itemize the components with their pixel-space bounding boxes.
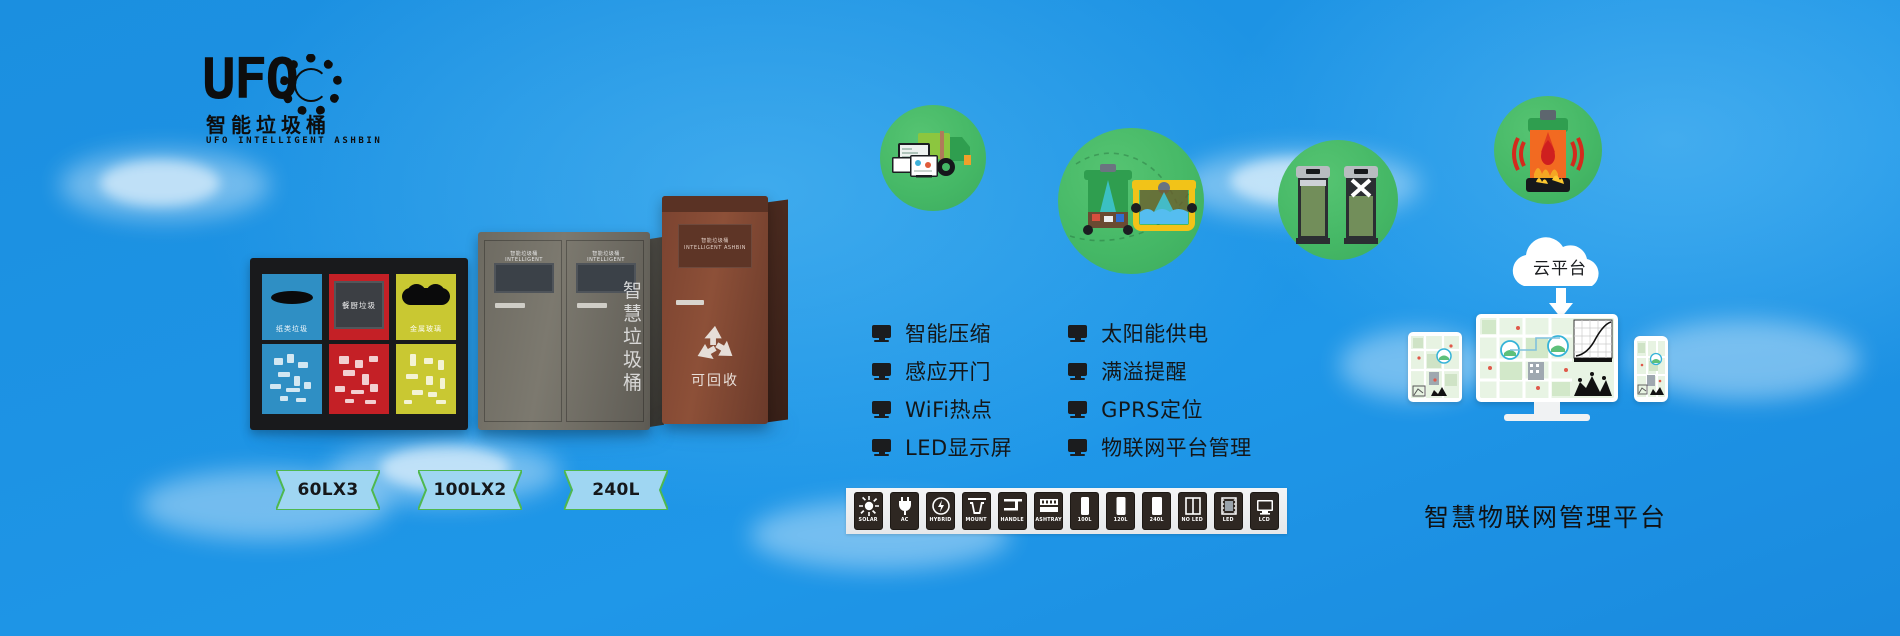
compartment-lower bbox=[262, 344, 322, 414]
bin-top-cap bbox=[662, 196, 768, 212]
tablet-map-view bbox=[1411, 336, 1459, 398]
spec-option-solar[interactable]: SOLAR bbox=[854, 492, 883, 530]
litter-graphic bbox=[262, 344, 322, 414]
compartment-label: 餐厨垃圾 bbox=[336, 300, 382, 311]
feature-label: 太阳能供电 bbox=[1101, 318, 1209, 348]
dashboard-graphic bbox=[1480, 318, 1614, 398]
bin-compartment-metal-glass: 金属玻璃 bbox=[396, 274, 456, 414]
cloud-platform-diagram: 云平台 bbox=[1388, 236, 1688, 436]
cloud-decoration bbox=[100, 160, 220, 206]
feature-circle-fire-alarm[interactable] bbox=[1494, 96, 1602, 204]
spec-label: HANDLE bbox=[1001, 517, 1024, 524]
spec-option-mount[interactable]: MOUNT bbox=[962, 492, 991, 530]
feature-item: GPRS定位 bbox=[1068, 394, 1252, 424]
feature-item: 满溢提醒 bbox=[1068, 356, 1252, 386]
feature-label: 智能压缩 bbox=[905, 318, 991, 348]
feature-column-2: 太阳能供电 满溢提醒 GPRS定位 物联网平台管理 bbox=[1068, 318, 1252, 462]
monitor-icon bbox=[1068, 325, 1087, 341]
spec-label: 240L bbox=[1149, 517, 1163, 524]
door-handle[interactable] bbox=[676, 300, 704, 305]
feature-item: 智能压缩 bbox=[872, 318, 1012, 348]
bin-compartment-paper: 纸类垃圾 bbox=[262, 274, 322, 414]
garbage-truck-dashboard-icon bbox=[880, 105, 986, 211]
spec-label: LED bbox=[1223, 517, 1234, 524]
waste-slot-oval-icon bbox=[271, 291, 313, 304]
platform-caption: 智慧物联网管理平台 bbox=[1424, 498, 1724, 534]
compartment-label: 金属玻璃 bbox=[396, 324, 456, 334]
cloud-icon: 云平台 bbox=[1500, 236, 1620, 292]
spec-option-led[interactable]: LED bbox=[1214, 492, 1243, 530]
product-triple-bin[interactable]: 纸类垃圾 餐厨垃圾 bbox=[250, 258, 468, 430]
monitor-icon bbox=[872, 439, 891, 455]
spec-option-ac[interactable]: AC bbox=[890, 492, 919, 530]
recycle-label: 可回收 bbox=[662, 370, 768, 390]
panel-label-en: INTELLIGENT ASHBIN bbox=[684, 245, 746, 251]
monitor-icon bbox=[872, 325, 891, 341]
spec-option-hybrid[interactable]: HYBRID bbox=[926, 492, 955, 530]
feature-label: GPRS定位 bbox=[1101, 394, 1203, 424]
logo-cn-name: 智能垃圾桶 bbox=[206, 114, 331, 136]
spec-label: 120L bbox=[1113, 517, 1127, 524]
waste-slot-cloud-icon bbox=[402, 288, 450, 305]
monitor-base bbox=[1504, 414, 1590, 421]
litter-graphic bbox=[329, 344, 389, 414]
monitor-icon bbox=[1068, 363, 1087, 379]
feature-item: 太阳能供电 bbox=[1068, 318, 1252, 348]
litter-graphic bbox=[396, 344, 456, 414]
spec-option-240l[interactable]: 240L bbox=[1142, 492, 1171, 530]
feature-label: LED显示屏 bbox=[905, 432, 1012, 462]
device-smartphone[interactable] bbox=[1634, 336, 1668, 402]
bin-fire-alarm-icon bbox=[1494, 96, 1602, 204]
spec-option-handle[interactable]: HANDLE bbox=[998, 492, 1027, 530]
capacity-banner-240l: 240L bbox=[564, 470, 668, 510]
monitor-icon bbox=[1068, 439, 1087, 455]
map-graphic bbox=[1411, 336, 1459, 398]
door-handle[interactable] bbox=[495, 303, 525, 308]
compartment-label: 纸类垃圾 bbox=[262, 324, 322, 334]
monitor-icon bbox=[872, 401, 891, 417]
capacity-label: 100LX2 bbox=[433, 480, 506, 500]
bin-120l-icon bbox=[1110, 495, 1132, 517]
power-plug-icon bbox=[894, 495, 916, 517]
hybrid-power-icon bbox=[930, 495, 952, 517]
bin-side-panel bbox=[766, 199, 788, 422]
brand-logo: UFO 智能垃圾桶 UFO INTELLIGENT ASHBIN bbox=[196, 52, 386, 154]
ufo-ring-inner-icon bbox=[294, 68, 328, 102]
display-screen: 餐厨垃圾 bbox=[334, 281, 384, 329]
monitor-icon bbox=[872, 363, 891, 379]
lcd-screen-icon bbox=[1254, 495, 1276, 517]
feature-item: 物联网平台管理 bbox=[1068, 432, 1252, 462]
feature-item: 感应开门 bbox=[872, 356, 1012, 386]
feature-list: 智能压缩 感应开门 WiFi热点 LED显示屏 太阳能供电 满溢提醒 bbox=[872, 318, 1252, 462]
spec-label: SOLAR bbox=[859, 517, 878, 524]
promo-banner: UFO 智能垃圾桶 UFO INTELLIGENT ASHBIN 纸类垃圾 bbox=[0, 0, 1900, 636]
ashtray-icon bbox=[1038, 495, 1060, 517]
spec-option-strip: SOLAR AC HYBRID MOUNT bbox=[846, 488, 1287, 534]
spec-option-100l[interactable]: 100L bbox=[1070, 492, 1099, 530]
capacity-banner-100lx2: 100LX2 bbox=[418, 470, 522, 510]
bin-ultrasonic-fill-icon bbox=[1058, 128, 1204, 274]
capacity-banner-60lx3: 60LX3 bbox=[276, 470, 380, 510]
spec-label: LCD bbox=[1259, 517, 1270, 524]
feature-label: 满溢提醒 bbox=[1101, 356, 1187, 386]
spec-option-lcd[interactable]: LCD bbox=[1250, 492, 1279, 530]
panel-label-cn: 智能垃圾桶 bbox=[701, 238, 729, 244]
bin-compartment-kitchen: 餐厨垃圾 bbox=[329, 274, 389, 414]
feature-label: WiFi热点 bbox=[905, 394, 993, 424]
map-graphic bbox=[1637, 341, 1665, 397]
spec-label: AC bbox=[901, 517, 909, 524]
sun-icon bbox=[858, 495, 880, 517]
feature-column-1: 智能压缩 感应开门 WiFi热点 LED显示屏 bbox=[872, 318, 1012, 462]
led-panel-icon bbox=[1218, 495, 1240, 517]
compartment-upper: 纸类垃圾 bbox=[262, 274, 322, 340]
spec-option-no-led[interactable]: NO LED bbox=[1178, 492, 1207, 530]
spec-label: 100L bbox=[1077, 517, 1091, 524]
handle-icon bbox=[1002, 495, 1024, 517]
bin-door-left[interactable]: 智能垃圾桶 INTELLIGENT ASHBIN bbox=[484, 240, 562, 422]
spec-label: ASHTRAY bbox=[1035, 517, 1061, 524]
device-desktop-monitor[interactable] bbox=[1476, 314, 1618, 402]
compartment-lower bbox=[396, 344, 456, 414]
compartment-lower bbox=[329, 344, 389, 414]
logo-en-name: UFO INTELLIGENT ASHBIN bbox=[206, 136, 382, 147]
spec-option-ashtray[interactable]: ASHTRAY bbox=[1034, 492, 1063, 530]
dashboard-view bbox=[1480, 318, 1614, 398]
feature-circle-smart-compaction[interactable] bbox=[1278, 140, 1398, 260]
compartment-upper: 金属玻璃 bbox=[396, 274, 456, 340]
device-tablet[interactable] bbox=[1408, 332, 1462, 402]
monitor-icon bbox=[1068, 401, 1087, 417]
spec-label: HYBRID bbox=[930, 517, 952, 524]
feature-circle-fill-level-sensing[interactable] bbox=[1058, 128, 1204, 274]
spec-option-120l[interactable]: 120L bbox=[1106, 492, 1135, 530]
product-brown-bin[interactable]: 智能垃圾桶 INTELLIGENT ASHBIN 可回收 bbox=[662, 196, 768, 424]
spec-label: MOUNT bbox=[966, 517, 987, 524]
feature-label: 感应开门 bbox=[905, 356, 991, 386]
door-handle[interactable] bbox=[577, 303, 607, 308]
spec-label: NO LED bbox=[1182, 517, 1203, 524]
phone-map-view bbox=[1637, 341, 1665, 397]
feature-circle-collection-dispatch[interactable] bbox=[880, 105, 986, 211]
bin-body: 智能垃圾桶 INTELLIGENT ASHBIN 智能垃圾桶 INTELLIGE… bbox=[478, 232, 650, 430]
feature-item: LED显示屏 bbox=[872, 432, 1012, 462]
wall-mount-icon bbox=[966, 495, 988, 517]
product-double-bin[interactable]: 智能垃圾桶 INTELLIGENT ASHBIN 智能垃圾桶 INTELLIGE… bbox=[478, 232, 650, 430]
panel-label: 智能垃圾桶 INTELLIGENT ASHBIN bbox=[678, 238, 752, 252]
compartment-upper: 餐厨垃圾 bbox=[329, 274, 389, 340]
recycle-icon bbox=[692, 324, 738, 368]
display-window bbox=[494, 263, 554, 293]
capacity-label: 240L bbox=[592, 480, 640, 500]
bin-100l-icon bbox=[1074, 495, 1096, 517]
twin-compactor-bin-icon bbox=[1278, 140, 1398, 260]
bin-body: 智能垃圾桶 INTELLIGENT ASHBIN 可回收 bbox=[662, 196, 768, 424]
feature-item: WiFi热点 bbox=[872, 394, 1012, 424]
bin-240l-icon bbox=[1146, 495, 1168, 517]
feature-label: 物联网平台管理 bbox=[1101, 432, 1252, 462]
no-led-icon bbox=[1182, 495, 1204, 517]
bin-vertical-text: 智慧垃圾桶 bbox=[622, 280, 644, 395]
capacity-label: 60LX3 bbox=[298, 480, 359, 500]
cloud-platform-label: 云平台 bbox=[1500, 236, 1620, 292]
